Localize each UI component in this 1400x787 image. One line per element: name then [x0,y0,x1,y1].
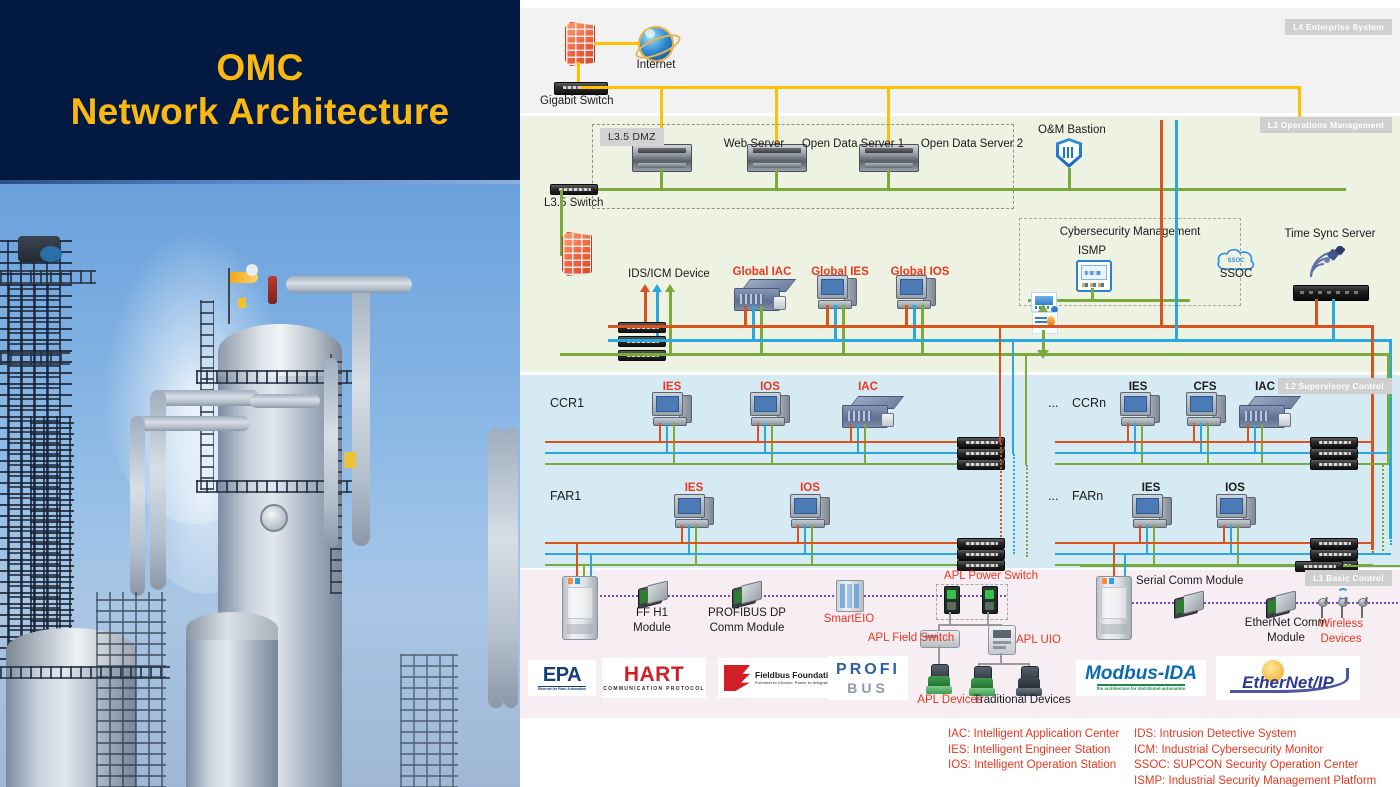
left-title-panel: OMC Network Architecture [0,0,520,787]
mid-riser-b [1012,339,1014,454]
gigabit-switch-label: Gigabit Switch [540,95,614,109]
l3-firewall-icon [562,232,592,276]
ccrn-switch-o [1310,437,1358,448]
green-drop-ods2 [887,170,890,190]
farn-ellipsis: ... [1048,489,1058,504]
wireless-device-3 [1358,598,1370,618]
global-ies-icon [817,275,857,309]
ngfw-icon [1032,312,1058,334]
wireless-devices-label-1: Wireless [1319,618,1363,632]
far1-ios-icon [790,494,830,528]
ccrn-node-2-label: IAC [1255,381,1275,395]
apl-field-switch-label: APL Field Switch [868,632,955,646]
legend-item-icm: ICM: Industrial Cybersecurity Monitor [1134,743,1376,759]
ccr1-ies-icon [652,392,692,426]
farn-ies-g [1153,525,1155,564]
internet-globe-icon [638,26,674,62]
l1-orange-drop-right [1113,542,1115,580]
layer-badge-l4: L4 Enterprise System [1285,19,1392,35]
ccr1-ios-icon [750,392,790,426]
farn-ies-o [1139,525,1141,542]
traditional-device-icon-1 [969,666,995,696]
global-ios-label: Global IOS [891,266,950,280]
ccr1-bus-b [545,452,1000,454]
ccrn-ies-icon [1120,392,1160,426]
farn-switch-b [1310,549,1358,560]
legend-item-ssoc: SSOC: SUPCON Security Operation Center [1134,758,1376,774]
ccrn-ellipsis: ... [1048,396,1058,411]
mid-riser-b-dash [1013,454,1015,554]
far1-ies-b [688,525,690,553]
farn-label: FARn [1072,489,1103,504]
mid-riser-o [999,325,1001,443]
iac-drop-b [752,306,755,340]
ccrn-cfs-b [1200,423,1202,452]
ngfw-arrow-up [1038,304,1048,312]
green-drop-ods1 [775,170,778,190]
green-drop-bastion [1068,168,1071,190]
ccr1-switch-b [957,448,1005,459]
layer-badge-l1: L1 Basic Control [1305,570,1392,586]
om-bastion-label: O&M Bastion [1038,124,1106,138]
l1-orange-drop-left [576,542,578,580]
global-ios-icon [896,275,936,309]
right-riser-b-dash [1390,465,1392,545]
ccr1-node-2-label: IAC [858,381,878,395]
ring-green-right [1387,353,1390,463]
logo-fieldbus-foundation: Fieldbus Foundation Freedom to Choose. P… [718,658,844,698]
l3-bus-green [560,353,1390,356]
farn-ies-b [1146,525,1148,553]
profibus-dp-module-icon [732,582,762,606]
green-drop-web [660,170,663,190]
ccrn-cfs-o [1193,423,1195,441]
serial-comm-module-label: Serial Comm Module [1136,575,1243,589]
logo-hart: HART COMMUNICATION PROTOCOL [602,658,706,698]
ismp-label: ISMP [1078,245,1106,259]
ssoc-label: SSOC [1220,268,1253,282]
web-server-label: Web Server [724,138,785,152]
right-riser-o-dash [1372,465,1374,553]
ccr1-iac-b [857,424,859,452]
ethernet-comm-label-2: Module [1267,632,1305,646]
traditional-devices-label: Traditional Devices [973,694,1070,708]
l3-bus-orange [608,325,1374,328]
layer-badge-l3: L3 Operations Management [1260,117,1392,133]
apl-power-switch-label: APL Power Switch [944,570,1038,584]
apl-uio-label: APL UIO [1016,634,1061,648]
l35-switch-label: L3.5 Switch [544,197,603,211]
apl-power-module-1 [944,586,960,614]
far1-switch-o [957,538,1005,549]
farn-ios-icon [1216,494,1256,528]
l35-switch-icon [550,184,598,195]
farn-ios-g [1237,525,1239,564]
far1-ies-o [681,525,683,542]
controller-cabinet-left [562,576,598,640]
drop-l4-right [1298,86,1301,120]
time-sync-server-icon [1293,285,1369,301]
open-data-server-2-label: Open Data Server 2 [921,138,1023,152]
ids-line-green [669,291,672,353]
wireless-device-2 [1338,598,1350,618]
far1-bus-o [545,542,1000,544]
l1-green-bus-right [1080,565,1400,567]
logo-profibus: PROFI BUS [828,656,908,700]
ios-drop-b [913,305,916,340]
far1-ies-icon [674,494,714,528]
legend-item-ies: IES: Intelligent Engineer Station [948,743,1119,759]
farn-ios-o [1223,525,1225,542]
ccrn-iac-o [1247,424,1249,441]
svg-text:SSOC: SSOC [1227,258,1245,264]
farn-ios-b [1230,525,1232,553]
layer-badge-l2: L2 Supervisory Control [1278,378,1392,394]
smarteio-icon [836,580,864,612]
ies-drop-g [842,305,845,354]
iac-drop-g [760,306,763,354]
far1-ies-g [695,525,697,564]
ccrn-label: CCRn [1072,396,1106,411]
tss-drop-b [1332,299,1335,339]
network-diagram: L4 Enterprise System L3 Operations Manag… [520,0,1400,787]
refinery-photo [0,184,520,787]
ccr1-ios-o [757,423,759,441]
trad-dev-bridge [978,663,1030,665]
mid-riser-o-dash [1000,443,1002,553]
firewall-icon [565,22,595,66]
satellite-icon [1305,246,1349,280]
apl-uio-icon [988,625,1016,655]
riser-blue-top [1175,120,1178,340]
title-block: OMC Network Architecture [0,0,520,180]
internet-label: Internet [637,59,676,73]
iac-drop-o [744,306,747,326]
ethernet-comm-label-1: EtherNet Comm [1245,617,1327,631]
legend-column-left: IAC: Intelligent Application Center IES:… [948,727,1119,774]
ccr1-ies-o [659,423,661,441]
ccr1-label: CCR1 [550,396,584,411]
traditional-device-icon-2 [1016,666,1042,696]
far1-ios-o [797,525,799,542]
mid-riser-g-dash [1026,465,1028,557]
apl-power-module-2 [982,586,998,614]
right-riser-g-dash [1382,465,1384,551]
profibus-module-label-1: PROFIBUS DP [708,607,786,621]
ff-h1-module-icon [638,582,668,606]
ccrn-cfs-icon [1186,392,1226,426]
legend-column-right: IDS: Intrusion Detective System ICM: Ind… [1134,727,1376,787]
ids-line-orange [644,291,647,325]
omc-network-architecture-page: OMC Network Architecture [0,0,1400,787]
ccr1-bus-o [545,441,1000,443]
far1-ios-b [804,525,806,553]
wireless-devices-label-2: Devices [1321,633,1362,647]
logo-ethernet-ip: EtherNet/IP [1216,656,1360,700]
ff-h1-module-label-2: Module [633,622,671,636]
page-title-line1: OMC [216,46,303,90]
smarteio-label: SmartEIO [824,613,874,627]
l35-green-bus [556,188,1346,191]
farn-switch-o [1310,538,1358,549]
ccr1-switch-o [957,437,1005,448]
logo-epa: EPA Ethernet for Plant Automation [528,660,596,696]
web-server-icon [632,144,692,172]
ff-h1-module-label-1: FF H1 [636,607,668,621]
ccrn-iac-b [1254,424,1256,452]
ies-drop-b [834,305,837,340]
ccr1-ios-b [764,423,766,452]
profibus-module-label-2: Comm Module [710,622,785,636]
serial-comm-module-icon [1174,592,1204,616]
global-iac-label: Global IAC [733,266,792,280]
l4-yellow-bus [580,86,1300,89]
ccr1-ies-b [666,423,668,452]
open-data-server-1-label: Open Data Server 1 [802,138,904,152]
link-firewall-internet [594,42,640,45]
far1-ios-g [811,525,813,564]
apl-device-icon [926,664,952,694]
legend-item-ios: IOS: Intelligent Operation Station [948,758,1119,774]
logo-modbus-ida: Modbus-IDA the architecture for distribu… [1076,660,1206,696]
farn-ies-icon [1132,494,1172,528]
far1-label: FAR1 [550,489,581,504]
ccr1-bus-g [545,463,1000,465]
ccrn-switch-b [1310,448,1358,459]
ids-icm-label: IDS/ICM Device [628,268,710,282]
mid-riser-g [1025,353,1027,465]
riser-orange-top [1160,120,1163,325]
ccrn-iac-g [1261,424,1263,463]
dmz-label: L3.5 DMZ [600,128,664,146]
far1-switch-b [957,549,1005,560]
time-sync-label: Time Sync Server [1285,228,1376,242]
far1-bus-g [545,564,1000,566]
ccr1-iac-g [864,424,866,463]
legend-item-iac: IAC: Intelligent Application Center [948,727,1119,743]
wireless-device-1 [1318,598,1330,618]
cybersecurity-title: Cybersecurity Management [1060,226,1201,240]
page-title-line2: Network Architecture [71,90,450,134]
ies-drop-o [826,305,829,326]
controller-cabinet-right [1096,576,1132,640]
ccrn-switch-g [1310,459,1358,470]
global-ies-label: Global IES [811,266,869,280]
ccr1-switch-g [957,459,1005,470]
ccrn-ies-o [1127,423,1129,441]
ccrn-ies-b [1134,423,1136,452]
ethernet-comm-module-icon [1266,592,1296,616]
far1-bus-b [545,553,1000,555]
tss-drop-o [1315,299,1318,325]
ios-drop-o [905,305,908,326]
ios-drop-g [921,305,924,354]
ccr1-iac-o [850,424,852,441]
ismp-device-icon [1076,260,1112,292]
legend-item-ids: IDS: Intrusion Detective System [1134,727,1376,743]
legend-item-ismp: ISMP: Industrial Security Management Pla… [1134,774,1376,787]
